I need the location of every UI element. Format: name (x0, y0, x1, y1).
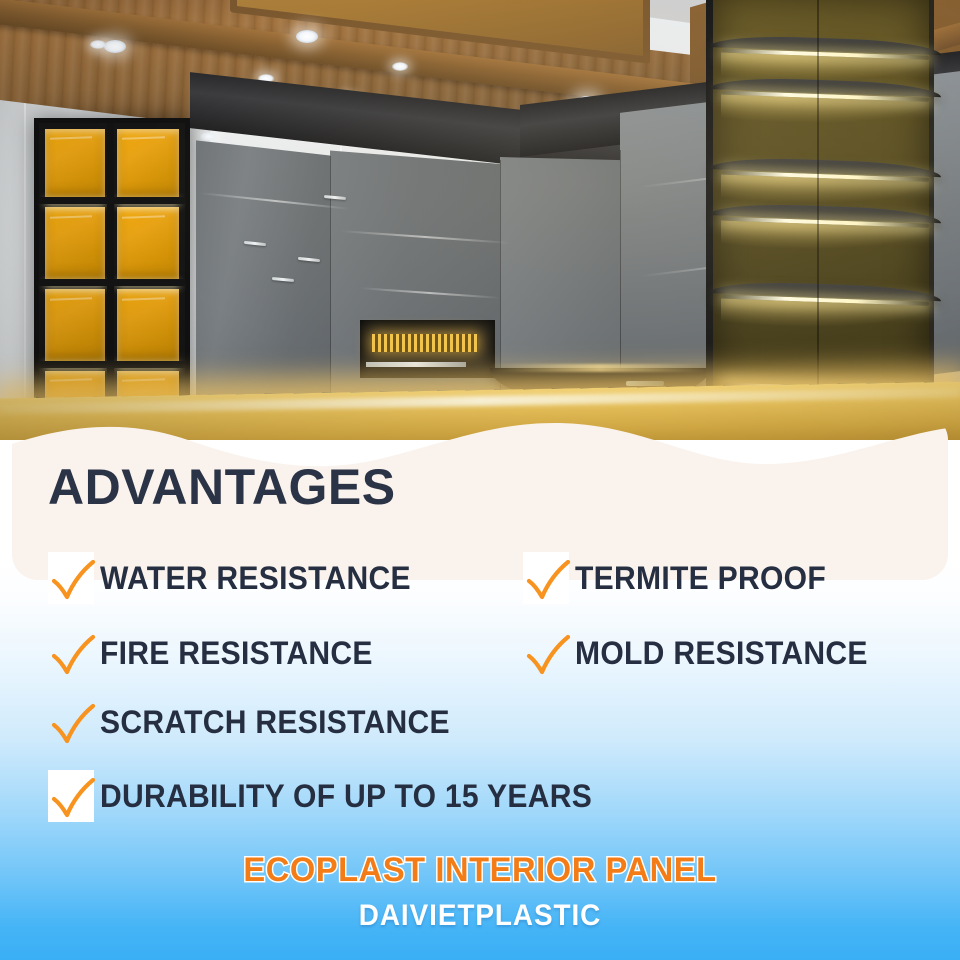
list-item: FIRE RESISTANCE (48, 627, 390, 679)
list-item: DURABILITY OF UP TO 15 YEARS (48, 770, 623, 822)
list-item-label: WATER RESISTANCE (100, 560, 411, 597)
list-item: WATER RESISTANCE (48, 552, 431, 604)
check-icon (48, 696, 94, 748)
list-item: TERMITE PROOF (523, 552, 842, 604)
list-item-label: SCRATCH RESISTANCE (100, 704, 450, 741)
list-item-label: FIRE RESISTANCE (100, 635, 373, 672)
poster-canvas: ADVANTAGES WATER RESISTANCE TERMITE PROO… (0, 0, 960, 960)
check-icon (48, 627, 94, 679)
list-item: SCRATCH RESISTANCE (48, 696, 472, 748)
check-icon (48, 770, 94, 822)
list-item-label: TERMITE PROOF (575, 560, 826, 597)
advantages-list: WATER RESISTANCE TERMITE PROOF FIRE RESI… (0, 0, 960, 960)
check-icon (523, 627, 569, 679)
check-icon (48, 552, 94, 604)
list-item-label: DURABILITY OF UP TO 15 YEARS (100, 778, 592, 815)
brand-name: DAIVIETPLASTIC (34, 899, 927, 933)
product-name: ECOPLAST INTERIOR PANEL (19, 851, 941, 890)
list-item: MOLD RESISTANCE (523, 627, 886, 679)
check-icon (523, 552, 569, 604)
list-item-label: MOLD RESISTANCE (575, 635, 868, 672)
